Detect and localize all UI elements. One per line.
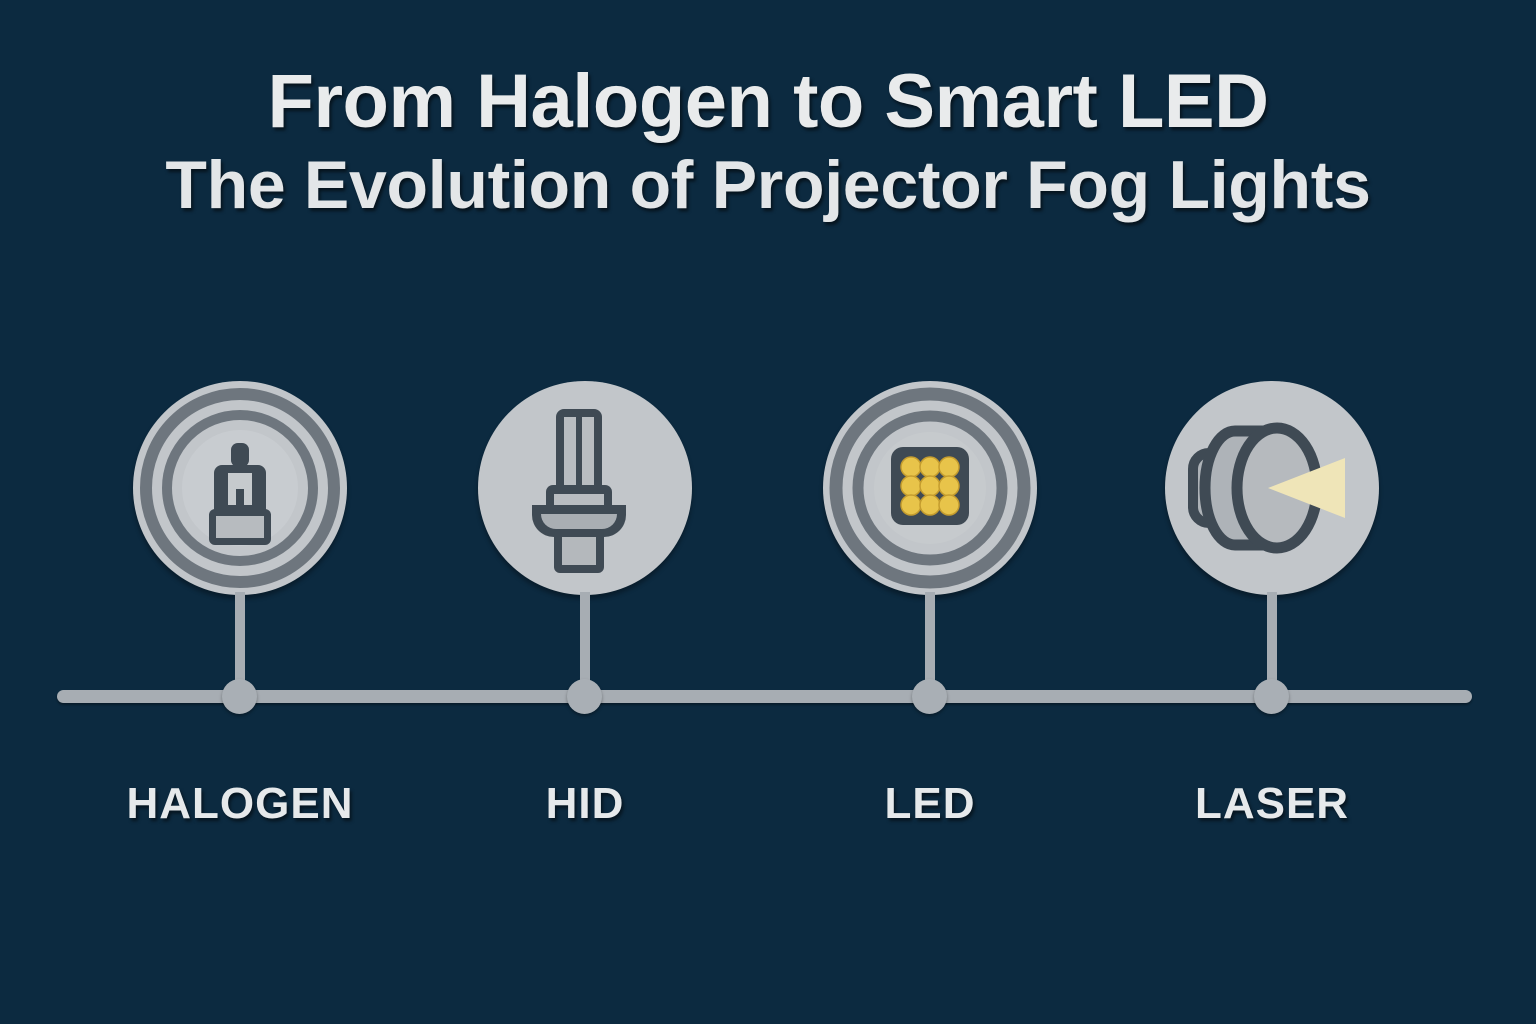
- page-subtitle: The Evolution of Projector Fog Lights: [0, 149, 1536, 221]
- hid-connector-stem: [580, 592, 590, 696]
- stage-label-led: LED: [775, 779, 1085, 829]
- hid-bulb-icon: [478, 381, 692, 595]
- halogen-icon-circle[interactable]: [133, 381, 347, 595]
- page-title: From Halogen to Smart LED: [0, 62, 1536, 143]
- hid-icon-circle[interactable]: [478, 381, 692, 595]
- timeline-axis: [57, 690, 1472, 703]
- stage-label-halogen: HALOGEN: [85, 779, 395, 829]
- led-icon-circle[interactable]: [823, 381, 1037, 595]
- halogen-bulb-icon: [133, 381, 347, 595]
- halogen-connector-stem: [235, 592, 245, 696]
- led-chip-icon: [823, 381, 1037, 595]
- laser-projector-icon: [1165, 381, 1379, 595]
- led-connector-stem: [925, 592, 935, 696]
- laser-connector-stem: [1267, 592, 1277, 696]
- laser-icon-circle[interactable]: [1165, 381, 1379, 595]
- stage-label-laser: LASER: [1117, 779, 1427, 829]
- stage-label-hid: HID: [430, 779, 740, 829]
- infographic-canvas: From Halogen to Smart LED The Evolution …: [0, 0, 1536, 1024]
- title-block: From Halogen to Smart LED The Evolution …: [0, 62, 1536, 221]
